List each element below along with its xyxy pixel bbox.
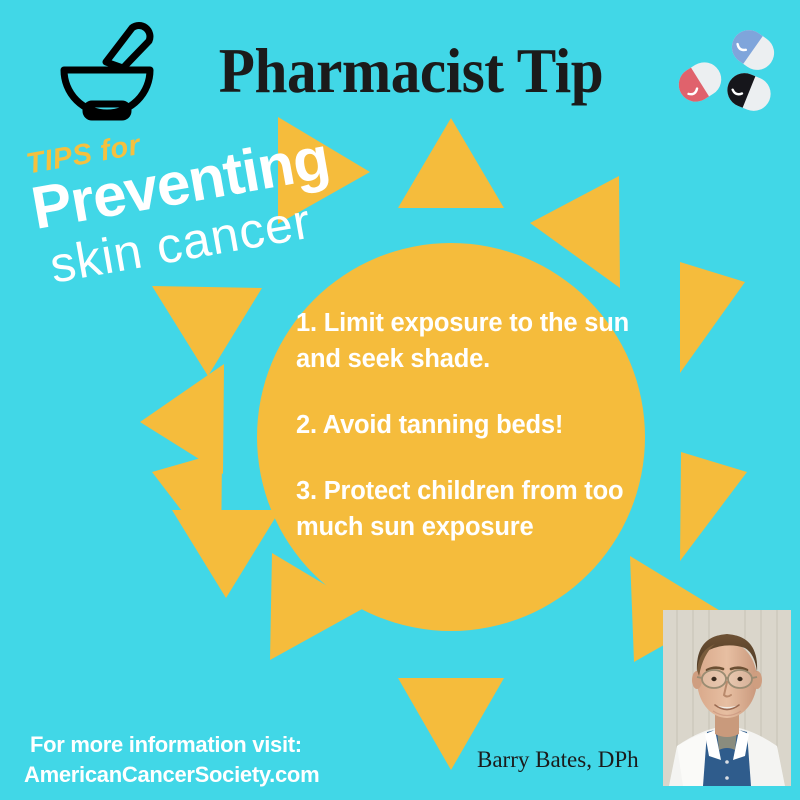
page-title: Pharmacist Tip (209, 32, 613, 112)
tip-item: 3. Protect children from too much sun ex… (296, 473, 636, 545)
pharmacist-name: Barry Bates, DPh (477, 747, 639, 773)
mortar-and-pestle-icon (48, 12, 166, 124)
footer: For more information visit: AmericanCanc… (24, 730, 319, 790)
tip-item: 2. Avoid tanning beds! (296, 407, 636, 443)
tip-item: 1. Limit exposure to the sun and seek sh… (296, 305, 636, 377)
tips-list: 1. Limit exposure to the sun and seek sh… (296, 305, 636, 545)
pills-icon (645, 10, 790, 130)
footer-website-link[interactable]: AmericanCancerSociety.com (24, 760, 319, 790)
poster-canvas: Pharmacist Tip TIPS for Preventing skin … (0, 0, 800, 800)
pharmacist-portrait-photo (663, 610, 791, 786)
footer-label: For more information visit: (30, 730, 319, 760)
